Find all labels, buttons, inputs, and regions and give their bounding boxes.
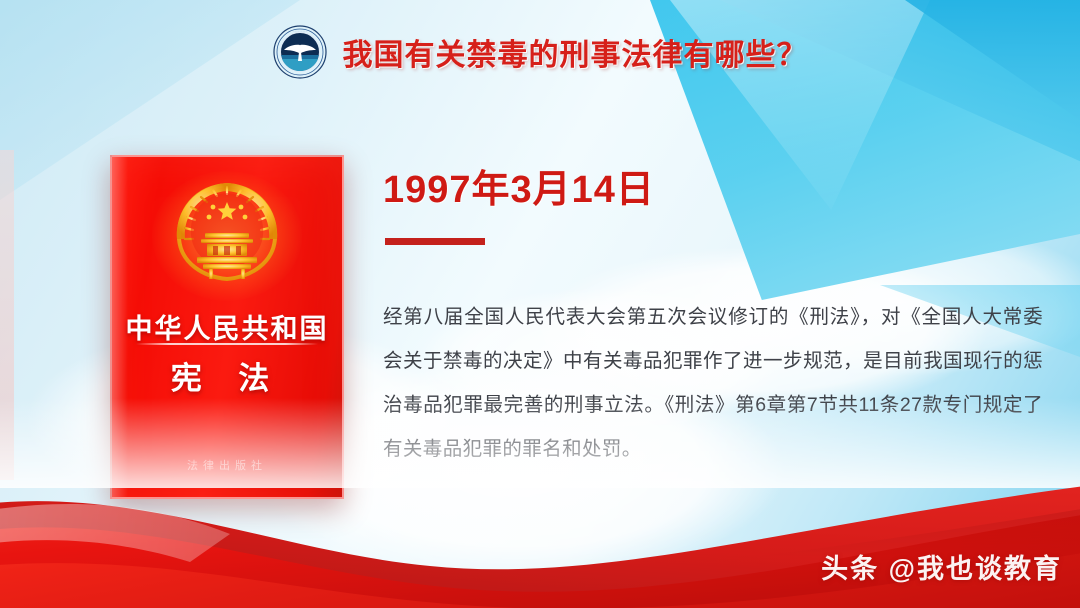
body-paragraph: 经第八届全国人民代表大会第五次会议修订的《刑法》，对《全国人大常委会关于禁毒的决… [383,295,1043,471]
page-title: 我国有关禁毒的刑事法律有哪些？ [343,30,808,74]
slide-canvas: ●●●●●●●●● ∙∙∙∙∙∙∙∙∙∙ 我国有关禁毒的刑事法律有哪些？ [0,0,1080,608]
book-title-line2: 宪 法 [112,353,342,398]
book-title-rule [136,343,318,345]
book-title-line1: 中华人民共和国 [112,307,342,346]
accent-divider-bar [385,238,485,245]
anti-drug-emblem-badge-icon: ●●●●●●●●● ∙∙∙∙∙∙∙∙∙∙ [273,25,327,79]
constitution-book-cover: 中华人民共和国 宪 法 法律出版社 [110,155,344,499]
book-publisher: 法律出版社 [112,457,342,473]
slide-header: ●●●●●●●●● ∙∙∙∙∙∙∙∙∙∙ 我国有关禁毒的刑事法律有哪些？ [0,24,1080,80]
svg-text:∙∙∙∙∙∙∙∙∙∙: ∙∙∙∙∙∙∙∙∙∙ [296,75,303,78]
date-heading: 1997年3月14日 [383,158,655,213]
national-emblem-china-icon [169,177,285,289]
svg-text:●●●●●●●●●: ●●●●●●●●● [292,30,307,33]
background-left-strip [0,150,14,480]
watermark-text: 头条 @我也谈教育 [821,547,1062,586]
